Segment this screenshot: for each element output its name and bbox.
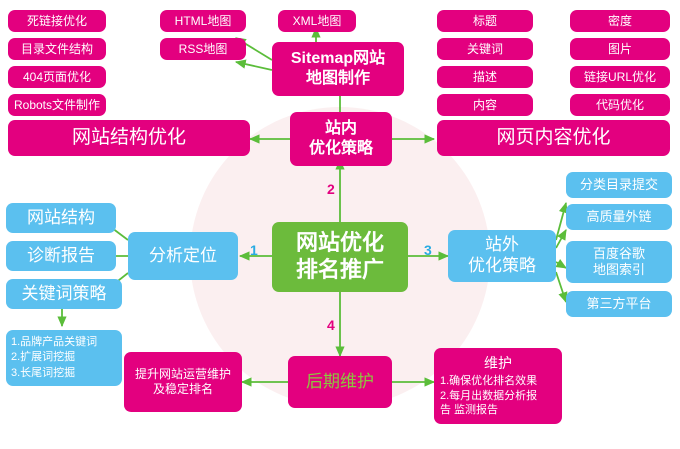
link-sitemap-rss: [236, 62, 272, 70]
sitemap-item-rss[interactable]: RSS地图: [160, 38, 246, 60]
sitemap-node[interactable]: Sitemap网站 地图制作: [272, 42, 404, 96]
structure-node[interactable]: 网站结构优化: [8, 120, 250, 156]
step-label-1: 1: [250, 243, 258, 257]
structure-item-404[interactable]: 404页面优化: [8, 66, 106, 88]
diagram-canvas: 网站优化 排名推广 1 2 3 4 站内 优化策略 Sitemap网站 地图制作…: [0, 0, 680, 449]
sitemap-item-xml[interactable]: XML地图: [278, 10, 356, 32]
keyword-list-card[interactable]: 1.品牌产品关键词 2.扩展词挖掘 3.长尾词挖掘: [6, 330, 122, 386]
content-item-keyword[interactable]: 关键词: [437, 38, 533, 60]
offsite-item-third-party[interactable]: 第三方平台: [566, 291, 672, 317]
center-node[interactable]: 网站优化 排名推广: [272, 222, 408, 292]
step-label-2: 2: [327, 182, 335, 196]
link-offsite-mapindex: [556, 262, 566, 268]
content-item-title[interactable]: 标题: [437, 10, 533, 32]
maintenance-card[interactable]: 维护 1.确保优化排名效果 2.每月出数据分析报 告 监测报告: [434, 348, 562, 424]
offsite-node[interactable]: 站外 优化策略: [448, 230, 556, 282]
maintenance-card-line-3: 告 监测报告: [440, 403, 556, 418]
content-item-code[interactable]: 代码优化: [570, 94, 670, 116]
offsite-item-map-index[interactable]: 百度谷歌 地图索引: [566, 241, 672, 283]
step-label-4: 4: [327, 318, 335, 332]
structure-item-directory[interactable]: 目录文件结构: [8, 38, 106, 60]
content-item-url[interactable]: 链接URL优化: [570, 66, 670, 88]
content-item-description[interactable]: 描述: [437, 66, 533, 88]
analysis-item-keyword-strategy[interactable]: 关键词策略: [6, 279, 122, 309]
sitemap-item-html[interactable]: HTML地图: [160, 10, 246, 32]
maintenance-note[interactable]: 提升网站运营维护 及稳定排名: [124, 352, 242, 412]
maintenance-node[interactable]: 后期维护: [288, 356, 392, 408]
analysis-item-report[interactable]: 诊断报告: [6, 241, 116, 271]
maintenance-card-heading: 维护: [440, 354, 556, 372]
link-offsite-directory: [556, 203, 566, 240]
link-offsite-backlink: [556, 230, 566, 248]
content-item-density[interactable]: 密度: [570, 10, 670, 32]
analysis-node[interactable]: 分析定位: [128, 232, 238, 280]
maintenance-card-line-2: 2.每月出数据分析报: [440, 389, 556, 404]
onsite-strategy-node[interactable]: 站内 优化策略: [290, 112, 392, 166]
structure-item-deadlink[interactable]: 死链接优化: [8, 10, 106, 32]
maintenance-card-line-1: 1.确保优化排名效果: [440, 374, 556, 389]
content-node[interactable]: 网页内容优化: [437, 120, 670, 156]
analysis-item-structure[interactable]: 网站结构: [6, 203, 116, 233]
content-item-body[interactable]: 内容: [437, 94, 533, 116]
structure-item-robots[interactable]: Robots文件制作: [8, 94, 106, 116]
link-offsite-thirdparty: [556, 272, 566, 302]
offsite-item-directory[interactable]: 分类目录提交: [566, 172, 672, 198]
content-item-image[interactable]: 图片: [570, 38, 670, 60]
offsite-item-backlink[interactable]: 高质量外链: [566, 204, 672, 230]
step-label-3: 3: [424, 243, 432, 257]
